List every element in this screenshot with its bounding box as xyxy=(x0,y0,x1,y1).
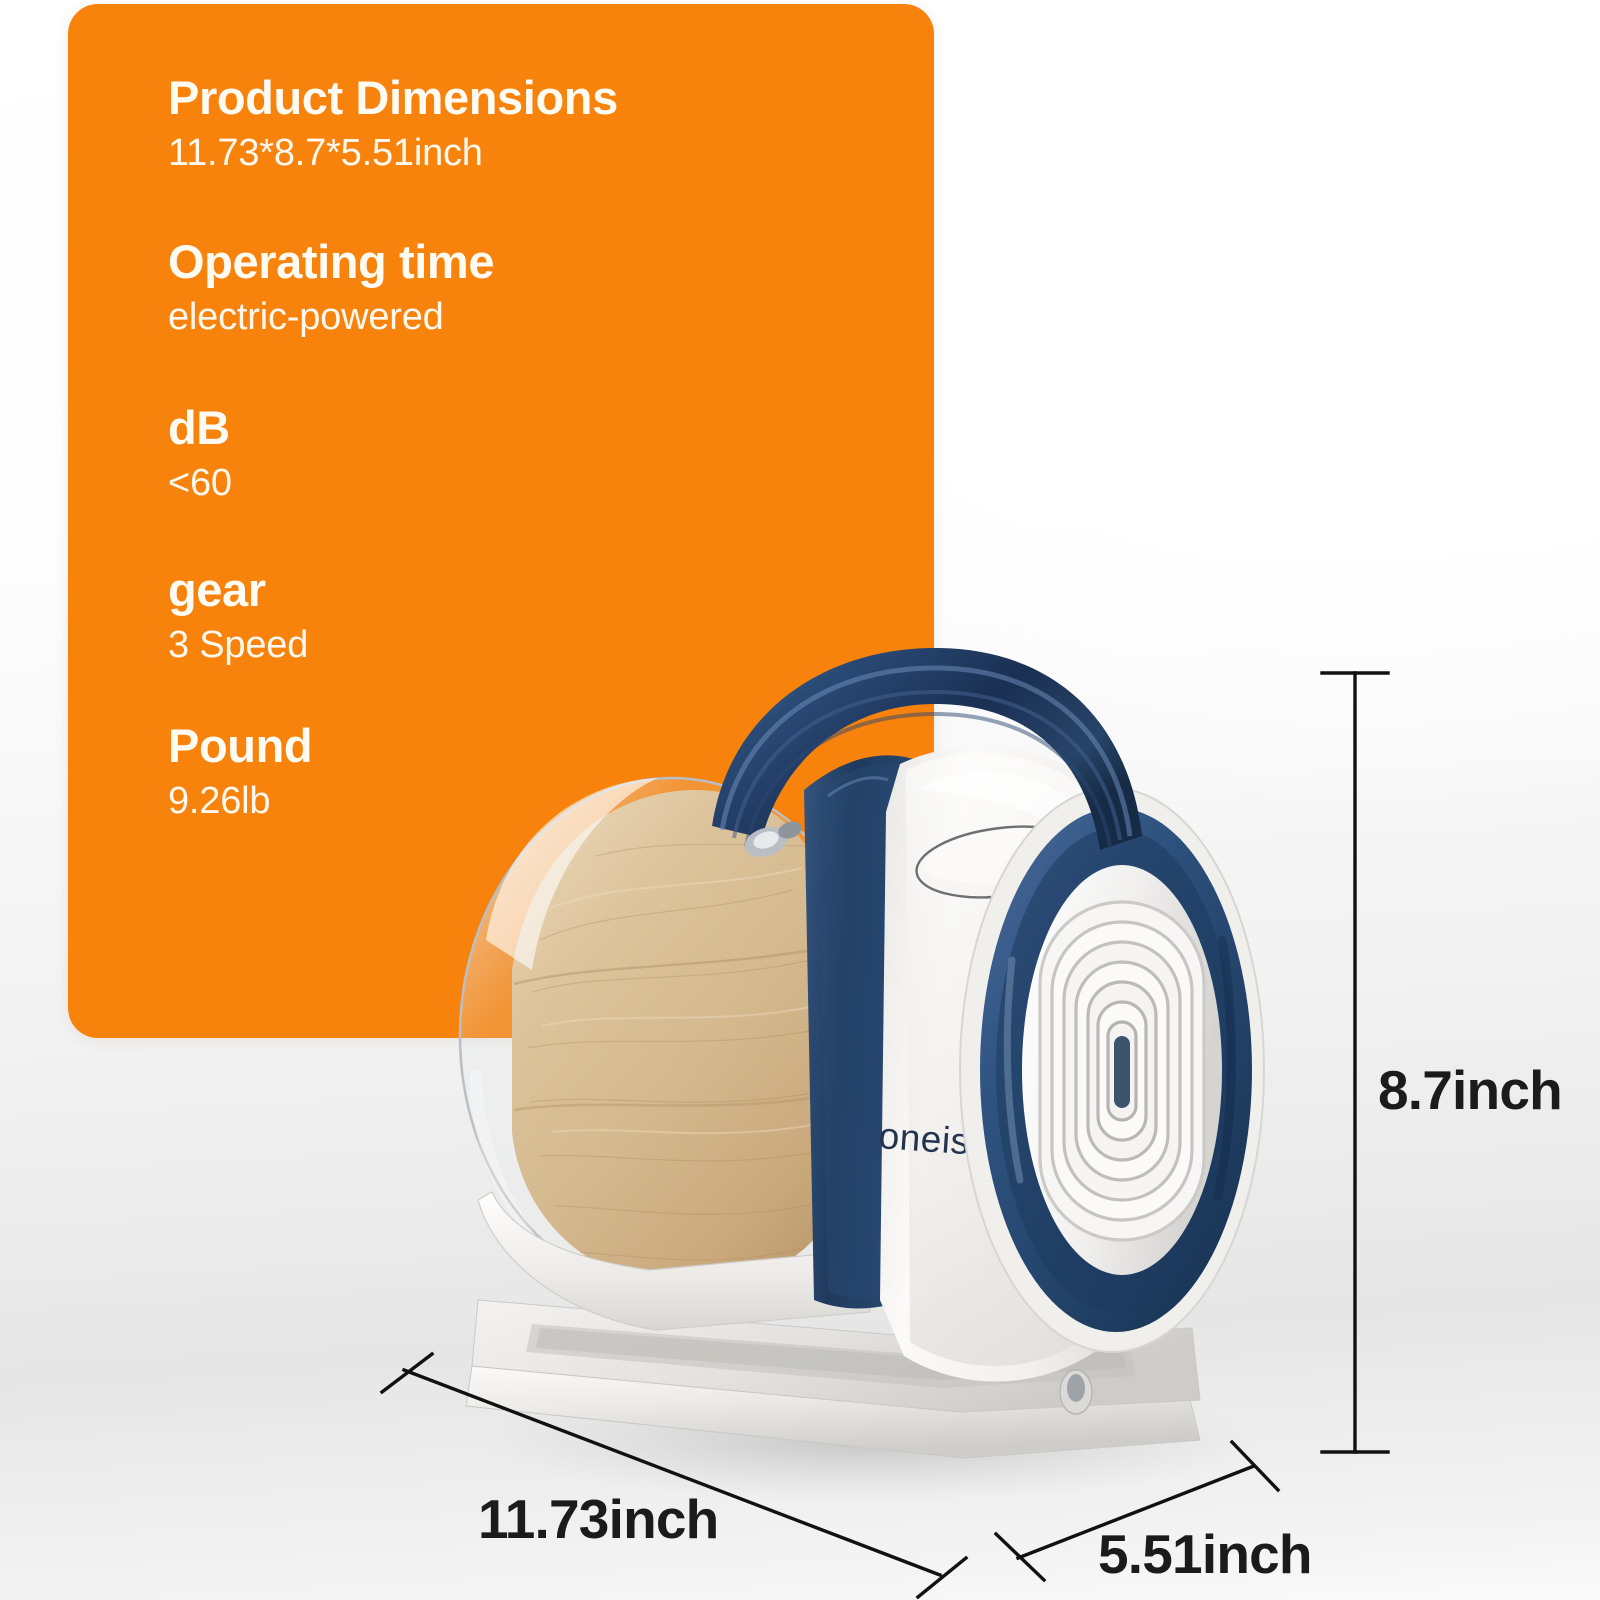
product-image: oneisall xyxy=(400,640,1300,1540)
vent-center-slot xyxy=(1114,1036,1130,1108)
height-dimension-label: 8.7inch xyxy=(1378,1058,1562,1122)
spec-title: gear xyxy=(168,564,868,617)
depth-dimension-label: 5.51inch xyxy=(1098,1522,1312,1586)
spec-value: 11.73*8.7*5.51inch xyxy=(168,129,868,178)
width-dimension-label: 11.73inch xyxy=(478,1487,718,1551)
infographic-canvas: Product Dimensions 11.73*8.7*5.51inch Op… xyxy=(0,0,1600,1600)
spec-value: electric-powered xyxy=(168,293,868,342)
spec-item-db: dB <60 xyxy=(168,402,868,508)
spec-title: dB xyxy=(168,402,868,455)
spec-value: <60 xyxy=(168,459,868,508)
spec-item-operating-time: Operating time electric-powered xyxy=(168,236,868,342)
spec-title: Operating time xyxy=(168,236,868,289)
spec-title: Product Dimensions xyxy=(168,72,868,125)
spec-item-product-dimensions: Product Dimensions 11.73*8.7*5.51inch xyxy=(168,72,868,178)
front-vent-assembly xyxy=(960,788,1264,1352)
